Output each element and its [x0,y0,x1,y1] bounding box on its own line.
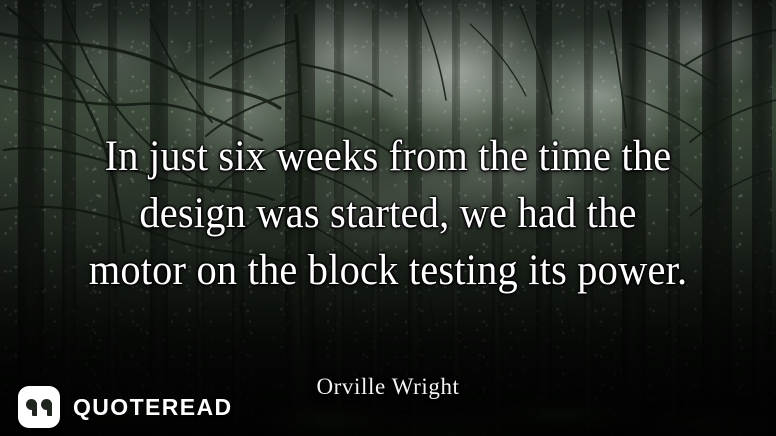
brand-name: QUOTEREAD [73,394,233,421]
quote-line-1: In just six weeks from the time the [48,128,729,185]
quote-line-3: motor on the block testing its power. [48,242,729,299]
quote-line-2: design was started, we had the [48,185,729,242]
quote-card: In just six weeks from the time the desi… [0,0,776,436]
quote-glyph-left [26,399,37,416]
double-quote-icon [18,386,60,428]
quoteread-logo[interactable]: QUOTEREAD [18,386,233,428]
quote-glyph-right [41,399,52,416]
quote-text-block: In just six weeks from the time the desi… [0,128,776,299]
